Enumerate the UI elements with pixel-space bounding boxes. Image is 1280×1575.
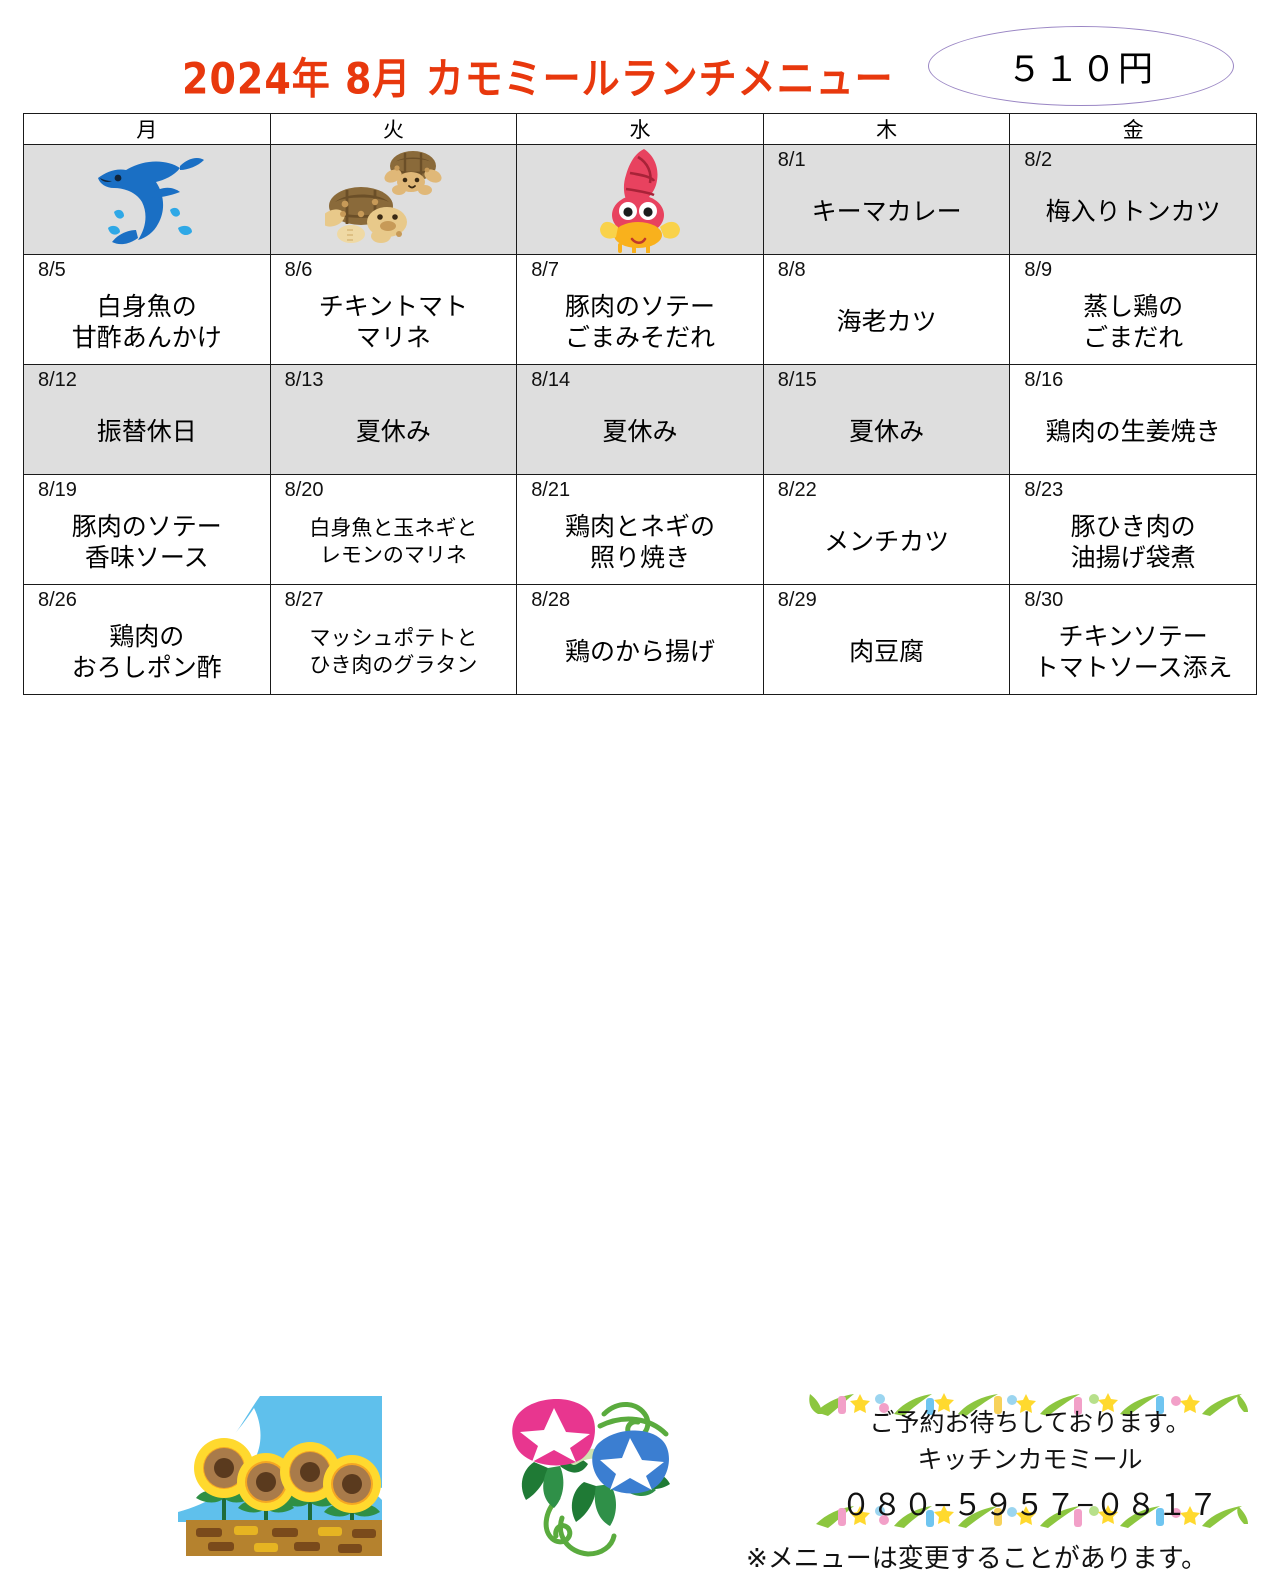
cell-date: 8/9 [1024, 259, 1052, 282]
cell-menu: チキントマトマリネ [275, 285, 513, 360]
cell-menu-line: 振替休日 [97, 417, 197, 448]
cell-menu-line: 香味ソース [85, 543, 209, 574]
cell-menu-line: 鶏肉の生姜焼き [1046, 417, 1221, 448]
calendar-cell: 8/26鶏肉のおろしポン酢 [24, 585, 271, 695]
cell-menu-line: 夏休み [849, 417, 924, 448]
cell-menu-line: 夏休み [602, 417, 677, 448]
cell-date: 8/21 [531, 479, 570, 502]
calendar-cell: 8/29肉豆腐 [763, 585, 1010, 695]
cell-date: 8/14 [531, 369, 570, 392]
cell-menu-line: 肉豆腐 [849, 637, 924, 668]
cell-date: 8/30 [1024, 589, 1063, 612]
cell-menu: 海老カツ [768, 285, 1006, 360]
cell-menu-line: 蒸し鶏の [1083, 292, 1183, 323]
cell-date: 8/19 [38, 479, 77, 502]
cell-menu-line: レモンのマリネ [320, 543, 467, 569]
menu-change-note: ※メニューは変更することがあります。 [746, 1538, 1207, 1575]
contact-block: ご予約お待ちしております。 キッチンカモミール ０８０−５９５７−０８１７ [800, 1390, 1260, 1538]
cell-date: 8/1 [778, 149, 806, 172]
cell-date: 8/15 [778, 369, 817, 392]
cell-menu: 夏休み [521, 395, 759, 470]
cell-menu: 白身魚の甘酢あんかけ [28, 285, 266, 360]
cell-menu-line: メンチカツ [824, 527, 949, 558]
cell-menu-line: おろしポン酢 [72, 653, 222, 684]
cell-date: 8/16 [1024, 369, 1063, 392]
calendar-cell-illustration [24, 145, 271, 255]
cell-menu-line: 夏休み [356, 417, 431, 448]
cell-menu-line: 白身魚と玉ネギと [309, 516, 477, 542]
weekday-header-tue: 火 [270, 114, 517, 145]
cell-menu-line: 甘酢あんかけ [72, 323, 222, 354]
calendar-week-row: 8/5白身魚の甘酢あんかけ8/6チキントマトマリネ8/7豚肉のソテーごまみそだれ… [24, 255, 1257, 365]
cell-menu: メンチカツ [768, 505, 1006, 580]
reservation-message: ご予約お待ちしております。 [869, 1405, 1190, 1443]
cell-menu-line: チキンソテー [1059, 622, 1208, 653]
calendar-cell: 8/1キーマカレー [763, 145, 1010, 255]
calendar-cell: 8/8海老カツ [763, 255, 1010, 365]
calendar-cell: 8/6チキントマトマリネ [270, 255, 517, 365]
cell-menu-line: 鶏肉とネギの [565, 512, 715, 543]
calendar-week-row: 8/12振替休日8/13夏休み8/14夏休み8/15夏休み8/16鶏肉の生姜焼き [24, 365, 1257, 475]
cell-menu: 鶏肉とネギの照り焼き [521, 505, 759, 580]
cell-date: 8/23 [1024, 479, 1063, 502]
cell-menu-line: マリネ [356, 323, 431, 354]
cell-menu-line: 海老カツ [837, 307, 937, 338]
weekday-header-thu: 木 [763, 114, 1010, 145]
calendar-cell: 8/12振替休日 [24, 365, 271, 475]
cell-menu: 豚肉のソテーごまみそだれ [521, 285, 759, 360]
cell-menu-line: 油揚げ袋煮 [1071, 543, 1196, 574]
cell-menu-line: 豚肉のソテー [565, 292, 715, 323]
cell-menu: 夏休み [275, 395, 513, 470]
page-header: 2024年 8月 カモミールランチメニュー ５１０円 [0, 0, 1280, 108]
cell-menu-line: マッシュポテトと [309, 626, 477, 652]
cell-date: 8/8 [778, 259, 806, 282]
cell-date: 8/26 [38, 589, 77, 612]
cell-date: 8/5 [38, 259, 66, 282]
weekday-header-mon: 月 [24, 114, 271, 145]
cell-menu-line: チキントマト [319, 292, 468, 323]
cell-menu: 豚肉のソテー香味ソース [28, 505, 266, 580]
calendar-cell: 8/20白身魚と玉ネギとレモンのマリネ [270, 475, 517, 585]
calendar-cell: 8/22メンチカツ [763, 475, 1010, 585]
weekday-header-fri: 金 [1010, 114, 1257, 145]
calendar-cell-illustration [270, 145, 517, 255]
calendar-cell: 8/28鶏のから揚げ [517, 585, 764, 695]
cell-menu: 肉豆腐 [768, 615, 1006, 690]
calendar-week-row: 8/19豚肉のソテー香味ソース8/20白身魚と玉ネギとレモンのマリネ8/21鶏肉… [24, 475, 1257, 585]
calendar-cell: 8/19豚肉のソテー香味ソース [24, 475, 271, 585]
cell-menu: 振替休日 [28, 395, 266, 470]
cell-menu-line: ごまみそだれ [565, 323, 715, 354]
cell-menu-line: 鶏のから揚げ [565, 637, 715, 668]
cell-menu: チキンソテートマトソース添え [1014, 615, 1252, 690]
cell-date: 8/6 [285, 259, 313, 282]
phone-number: ０８０−５９５７−０８１７ [841, 1480, 1219, 1524]
calendar-cell: 8/21鶏肉とネギの照り焼き [517, 475, 764, 585]
calendar-cell: 8/23豚ひき肉の油揚げ袋煮 [1010, 475, 1257, 585]
cell-menu: 豚ひき肉の油揚げ袋煮 [1014, 505, 1252, 580]
menu-calendar: 月 火 水 木 金 [23, 113, 1257, 695]
cell-menu: 梅入りトンカツ [1014, 175, 1252, 250]
dolphin-illustration [24, 145, 270, 254]
calendar-body: 8/1キーマカレー8/2梅入りトンカツ8/5白身魚の甘酢あんかけ8/6チキントマ… [24, 145, 1257, 695]
cell-menu: 鶏肉の生姜焼き [1014, 395, 1252, 470]
cell-date: 8/12 [38, 369, 77, 392]
calendar-week-row: 8/1キーマカレー8/2梅入りトンカツ [24, 145, 1257, 255]
cell-menu-line: 照り焼き [590, 543, 690, 574]
cell-menu-line: トマトソース添え [1034, 653, 1233, 684]
cell-date: 8/13 [285, 369, 324, 392]
shop-name: キッチンカモミール [917, 1442, 1142, 1480]
calendar-cell: 8/16鶏肉の生姜焼き [1010, 365, 1257, 475]
page-footer: ご予約お待ちしております。 キッチンカモミール ０８０−５９５７−０８１７ ※メ… [0, 690, 1280, 905]
price-badge: ５１０円 [928, 26, 1234, 106]
cell-menu: キーマカレー [768, 175, 1006, 250]
cell-date: 8/28 [531, 589, 570, 612]
calendar-cell: 8/15夏休み [763, 365, 1010, 475]
calendar-week-row: 8/26鶏肉のおろしポン酢8/27マッシュポテトとひき肉のグラタン8/28鶏のか… [24, 585, 1257, 695]
cell-date: 8/27 [285, 589, 324, 612]
cell-menu: 夏休み [768, 395, 1006, 470]
calendar-cell: 8/14夏休み [517, 365, 764, 475]
cell-menu: 鶏肉のおろしポン酢 [28, 615, 266, 690]
cell-menu-line: ひき肉のグラタン [309, 653, 477, 679]
calendar-cell: 8/13夏休み [270, 365, 517, 475]
page-title: 2024年 8月 カモミールランチメニュー [182, 44, 894, 106]
cell-menu: マッシュポテトとひき肉のグラタン [275, 615, 513, 690]
weekday-header-row: 月 火 水 木 金 [24, 114, 1257, 145]
cell-menu-line: 豚肉のソテー [72, 512, 222, 543]
calendar-cell: 8/2梅入りトンカツ [1010, 145, 1257, 255]
cell-date: 8/22 [778, 479, 817, 502]
cell-date: 8/7 [531, 259, 559, 282]
calendar-cell: 8/27マッシュポテトとひき肉のグラタン [270, 585, 517, 695]
calendar-cell-illustration [517, 145, 764, 255]
price-text: ５１０円 [1007, 41, 1155, 92]
cell-menu-line: キーマカレー [812, 197, 962, 228]
sea-turtles-illustration [271, 145, 517, 254]
calendar-cell: 8/9蒸し鶏のごまだれ [1010, 255, 1257, 365]
cell-menu-line: ごまだれ [1083, 323, 1183, 354]
hermit-crab-illustration [517, 145, 763, 254]
cell-menu-line: 梅入りトンカツ [1046, 197, 1221, 228]
cell-menu: 鶏のから揚げ [521, 615, 759, 690]
cell-date: 8/20 [285, 479, 324, 502]
cell-menu: 白身魚と玉ネギとレモンのマリネ [275, 505, 513, 580]
morning-glory-illustration [496, 1390, 686, 1570]
cell-menu: 蒸し鶏のごまだれ [1014, 285, 1252, 360]
cell-menu-line: 鶏肉の [109, 622, 184, 653]
sunflowers-illustration [168, 1392, 390, 1567]
calendar-cell: 8/30チキンソテートマトソース添え [1010, 585, 1257, 695]
calendar-cell: 8/5白身魚の甘酢あんかけ [24, 255, 271, 365]
cell-date: 8/2 [1024, 149, 1052, 172]
weekday-header-wed: 水 [517, 114, 764, 145]
cell-menu-line: 豚ひき肉の [1071, 512, 1196, 543]
cell-date: 8/29 [778, 589, 817, 612]
calendar-cell: 8/7豚肉のソテーごまみそだれ [517, 255, 764, 365]
cell-menu-line: 白身魚の [97, 292, 197, 323]
